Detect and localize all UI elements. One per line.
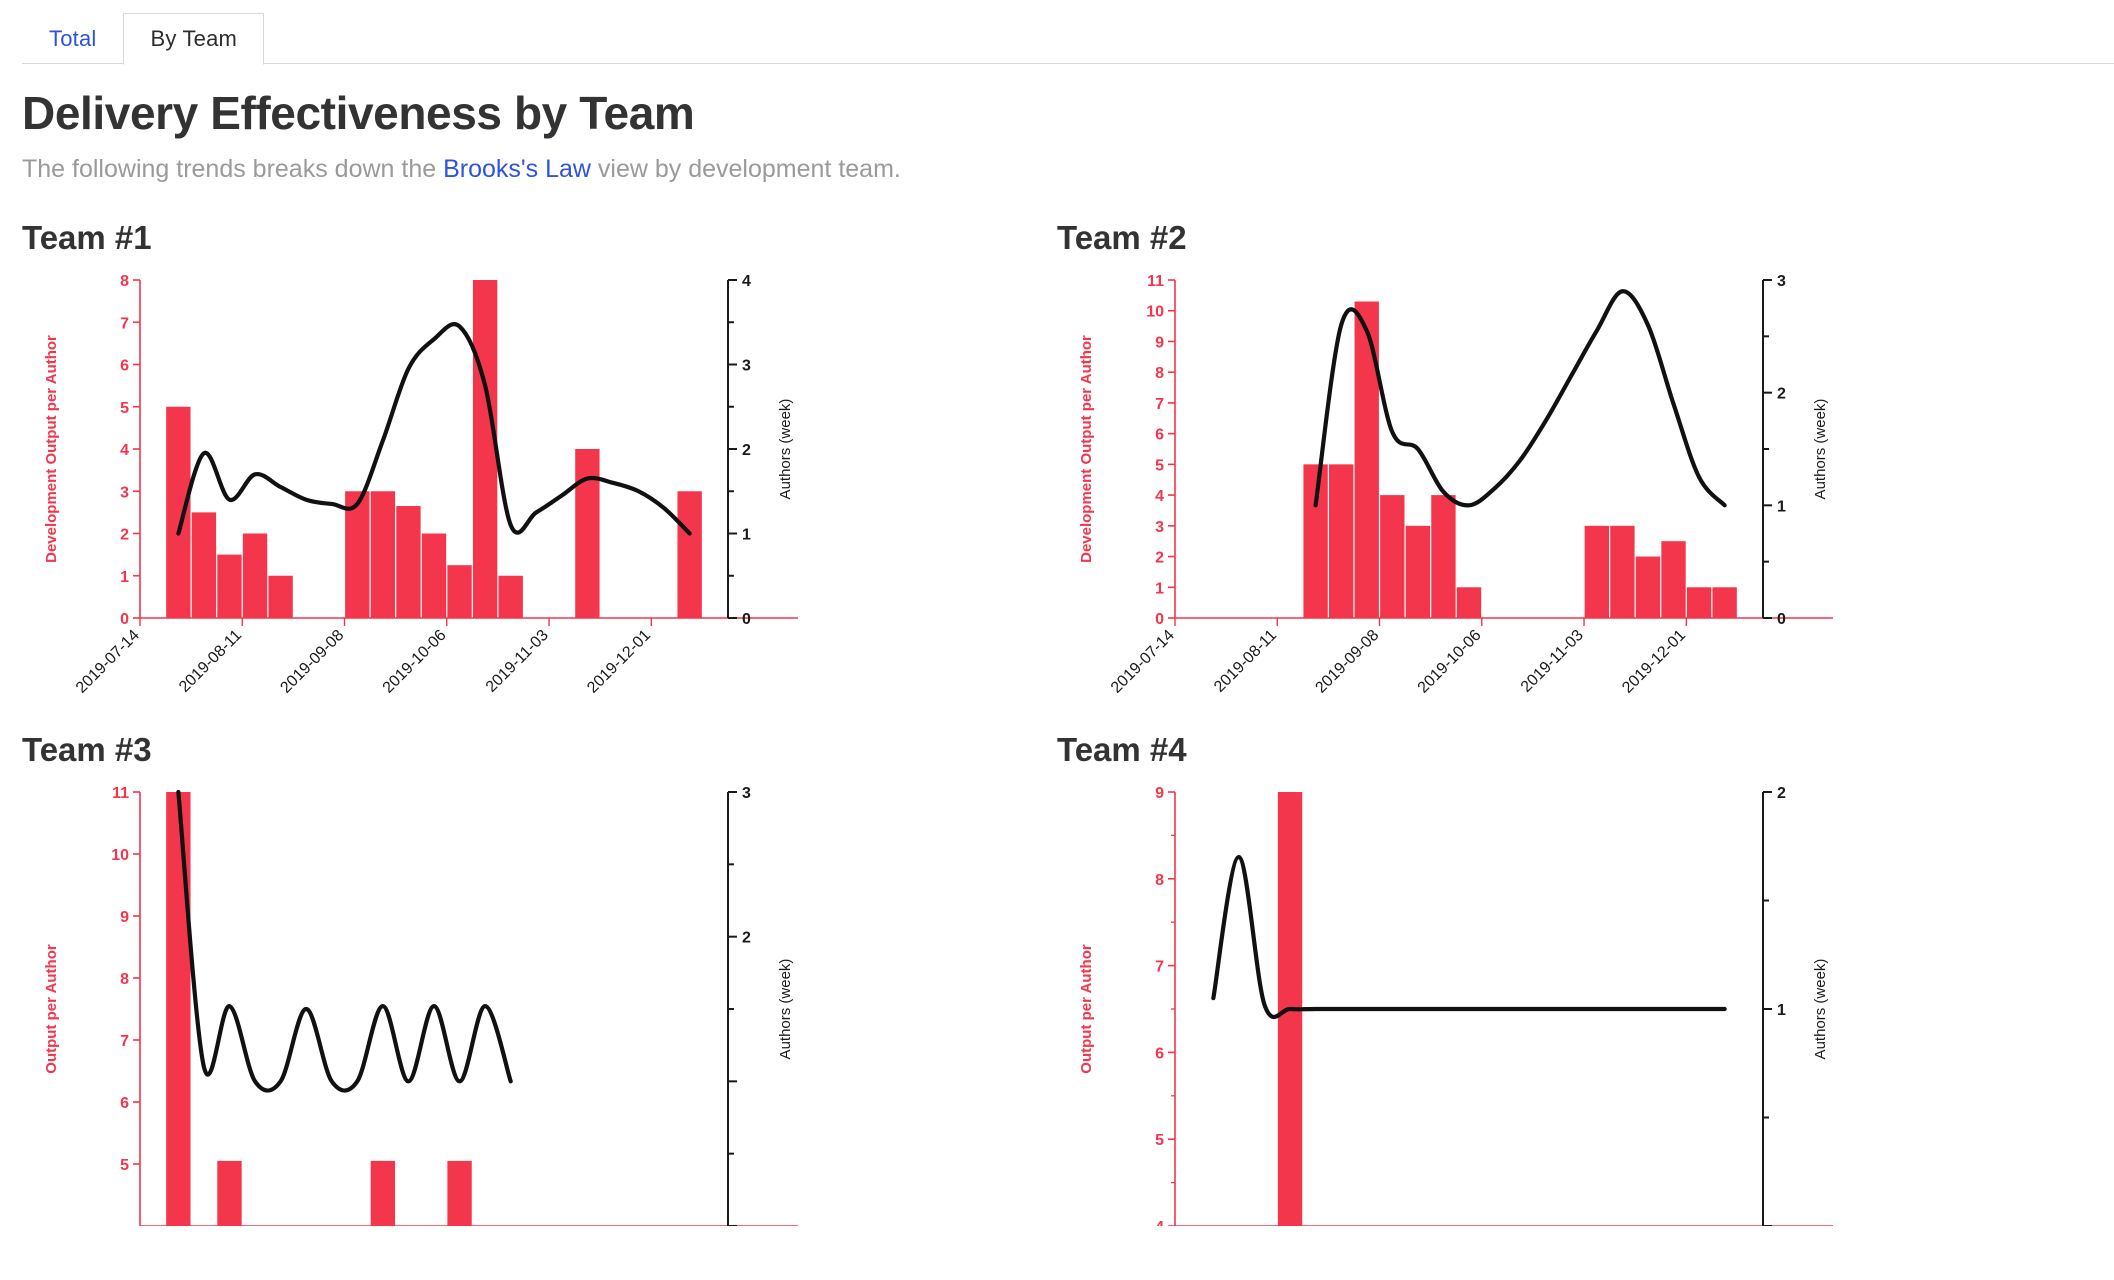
svg-text:5: 5 (1155, 457, 1164, 474)
svg-text:2019-11-03: 2019-11-03 (483, 627, 552, 696)
team-chart-grid: Team #1 012345678Development Output per … (0, 218, 2114, 1242)
team-3-chart: 567891011Output per Author23Authors (wee… (22, 784, 834, 1226)
svg-text:2: 2 (1155, 550, 1164, 567)
svg-text:10: 10 (111, 847, 129, 864)
svg-text:0: 0 (1155, 611, 1164, 628)
team-4-chart-svg: 456789Output per Author12Authors (week) (1057, 784, 1869, 1226)
svg-text:6: 6 (1155, 1045, 1164, 1062)
svg-text:2019-07-14: 2019-07-14 (73, 627, 143, 697)
svg-text:8: 8 (1155, 365, 1164, 382)
svg-text:4: 4 (1155, 1219, 1164, 1226)
svg-text:4: 4 (120, 442, 129, 459)
svg-text:3: 3 (1777, 273, 1786, 290)
team-4-title: Team #4 (1057, 730, 2092, 770)
svg-text:2019-08-11: 2019-08-11 (176, 627, 245, 696)
svg-text:8: 8 (1155, 872, 1164, 889)
page-header: Delivery Effectiveness by Team The follo… (0, 64, 2114, 184)
svg-text:2: 2 (1777, 386, 1786, 403)
team-1-chart-svg: 012345678Development Output per Author01… (22, 272, 834, 714)
svg-text:2: 2 (120, 527, 129, 544)
page-title: Delivery Effectiveness by Team (22, 86, 2092, 140)
brooks-law-link[interactable]: Brooks's Law (443, 155, 591, 183)
svg-text:2019-07-14: 2019-07-14 (1108, 627, 1178, 697)
svg-text:11: 11 (1147, 273, 1164, 290)
svg-text:2019-10-06: 2019-10-06 (380, 627, 450, 697)
team-3-title: Team #3 (22, 730, 1057, 770)
team-chart-cell-2: Team #2 01234567891011Development Output… (1057, 218, 2092, 730)
svg-text:2019-08-11: 2019-08-11 (1211, 627, 1280, 696)
svg-text:7: 7 (120, 1033, 129, 1050)
svg-text:4: 4 (1155, 488, 1164, 505)
subtitle-text-before: The following trends breaks down the (22, 155, 443, 183)
page-subtitle: The following trends breaks down the Bro… (22, 154, 2092, 184)
svg-text:Output per Author: Output per Author (1078, 944, 1095, 1074)
svg-text:Development Output per Author: Development Output per Author (43, 335, 60, 563)
svg-text:0: 0 (742, 611, 751, 628)
team-1-title: Team #1 (22, 218, 1057, 258)
tab-total[interactable]: Total (22, 13, 123, 64)
svg-text:2019-11-03: 2019-11-03 (1518, 627, 1587, 696)
svg-text:2019-09-08: 2019-09-08 (277, 627, 347, 697)
svg-text:11: 11 (112, 785, 129, 802)
svg-text:2019-10-06: 2019-10-06 (1415, 627, 1485, 697)
svg-text:9: 9 (1155, 785, 1164, 802)
svg-text:1: 1 (1777, 1002, 1786, 1019)
svg-text:Authors (week): Authors (week) (777, 399, 794, 500)
svg-text:9: 9 (1155, 334, 1164, 351)
svg-text:1: 1 (1155, 580, 1164, 597)
svg-text:7: 7 (1155, 959, 1164, 976)
svg-text:1: 1 (120, 569, 129, 586)
svg-text:2019-09-08: 2019-09-08 (1312, 627, 1382, 697)
team-3-chart-svg: 567891011Output per Author23Authors (wee… (22, 784, 834, 1226)
svg-text:9: 9 (120, 909, 129, 926)
tab-bar: Total By Team (0, 0, 2114, 64)
svg-text:5: 5 (120, 400, 129, 417)
svg-text:3: 3 (742, 358, 751, 375)
svg-text:7: 7 (1155, 396, 1164, 413)
svg-text:Output per Author: Output per Author (43, 944, 60, 1074)
tab-total-label: Total (49, 26, 96, 51)
svg-text:6: 6 (120, 358, 129, 375)
svg-text:3: 3 (120, 484, 129, 501)
svg-text:2: 2 (1777, 785, 1786, 802)
svg-text:1: 1 (742, 527, 751, 544)
svg-text:2019-12-01: 2019-12-01 (1619, 627, 1689, 697)
svg-text:Development Output per Author: Development Output per Author (1078, 335, 1095, 563)
svg-text:2: 2 (742, 442, 751, 459)
svg-text:0: 0 (120, 611, 129, 628)
team-2-chart: 01234567891011Development Output per Aut… (1057, 272, 1869, 714)
team-1-chart: 012345678Development Output per Author01… (22, 272, 834, 714)
tab-by-team[interactable]: By Team (123, 13, 264, 65)
team-2-title: Team #2 (1057, 218, 2092, 258)
svg-text:3: 3 (1155, 519, 1164, 536)
svg-text:8: 8 (120, 273, 129, 290)
svg-text:Authors (week): Authors (week) (777, 959, 794, 1060)
svg-text:Authors (week): Authors (week) (1812, 399, 1829, 500)
team-chart-cell-3: Team #3 567891011Output per Author23Auth… (22, 730, 1057, 1242)
svg-text:5: 5 (120, 1157, 129, 1174)
svg-text:6: 6 (1155, 427, 1164, 444)
subtitle-text-after: view by development team. (591, 155, 901, 183)
svg-text:Authors (week): Authors (week) (1812, 959, 1829, 1060)
team-4-chart: 456789Output per Author12Authors (week) (1057, 784, 1869, 1226)
svg-text:1: 1 (1777, 498, 1786, 515)
tab-by-team-label: By Team (150, 26, 237, 51)
svg-text:0: 0 (1777, 611, 1786, 628)
svg-text:2019-12-01: 2019-12-01 (584, 627, 654, 697)
team-chart-cell-4: Team #4 456789Output per Author12Authors… (1057, 730, 2092, 1242)
team-2-chart-svg: 01234567891011Development Output per Aut… (1057, 272, 1869, 714)
svg-text:6: 6 (120, 1095, 129, 1112)
svg-text:7: 7 (120, 315, 129, 332)
svg-text:8: 8 (120, 971, 129, 988)
svg-text:2: 2 (742, 930, 751, 947)
page-root: Total By Team Delivery Effectiveness by … (0, 0, 2114, 1280)
svg-text:4: 4 (742, 273, 751, 290)
svg-text:3: 3 (742, 785, 751, 802)
svg-text:10: 10 (1146, 304, 1164, 321)
svg-text:5: 5 (1155, 1132, 1164, 1149)
team-chart-cell-1: Team #1 012345678Development Output per … (22, 218, 1057, 730)
